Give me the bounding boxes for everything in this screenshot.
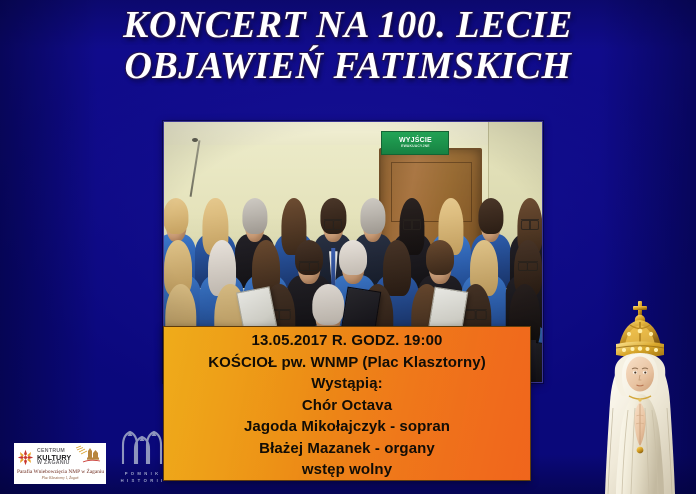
parish-name-text: Parafia Wniebowzięcia NMP w Żaganiu xyxy=(17,469,104,475)
crown-cross xyxy=(633,301,647,317)
monument-caption-line-1: P O M N I K xyxy=(121,471,164,477)
event-venue: KOŚCIOŁ pw. WNMP (Plac Klasztorny) xyxy=(208,352,486,374)
our-lady-of-fatima-statue xyxy=(594,298,686,494)
event-details-box: 13.05.2017 R. GODZ. 19:00 KOŚCIOŁ pw. WN… xyxy=(163,326,531,481)
performer-soprano: Jagoda Mikołajczyk - sopran xyxy=(244,416,450,438)
microphone-icon xyxy=(192,138,198,142)
admission-note: wstęp wolny xyxy=(302,459,392,481)
exit-sign-line-2: EWAKUACYJNE xyxy=(401,144,430,148)
emergency-exit-sign: WYJŚCIE EWAKUACYJNE xyxy=(381,131,449,155)
parish-subtitle: Plac Klasztorny 1, Żagań xyxy=(17,476,103,480)
church-sketch-icon xyxy=(74,445,104,465)
parish-name: Parafia Wniebowzięcia NMP w Żaganiu Plac… xyxy=(17,469,103,480)
culture-center-mark-icon xyxy=(17,449,34,466)
culture-center-word-3: W ŻAGANIU xyxy=(37,461,71,466)
culture-center-logo: CENTRUM KULTURY W ŻAGANIU xyxy=(14,443,106,484)
monument-caption: P O M N I K H I S T O R I I xyxy=(121,471,164,484)
gothic-arch-icon xyxy=(119,429,165,470)
event-datetime: 13.05.2017 R. GODZ. 19:00 xyxy=(252,330,443,352)
performers-label: Wystąpią: xyxy=(311,373,382,395)
sponsor-logos: CENTRUM KULTURY W ŻAGANIU xyxy=(14,437,168,484)
monument-of-history-logo: P O M N I K H I S T O R I I xyxy=(116,437,168,484)
concert-poster: KONCERT NA 100. LECIE OBJAWIEŃ FATIMSKIC… xyxy=(0,0,696,494)
exit-sign-line-1: WYJŚCIE xyxy=(399,137,432,144)
performer-choir: Chór Octava xyxy=(302,395,392,417)
performer-organ: Błażej Mazanek - organy xyxy=(259,438,435,460)
monument-caption-line-2: H I S T O R I I xyxy=(121,478,164,484)
